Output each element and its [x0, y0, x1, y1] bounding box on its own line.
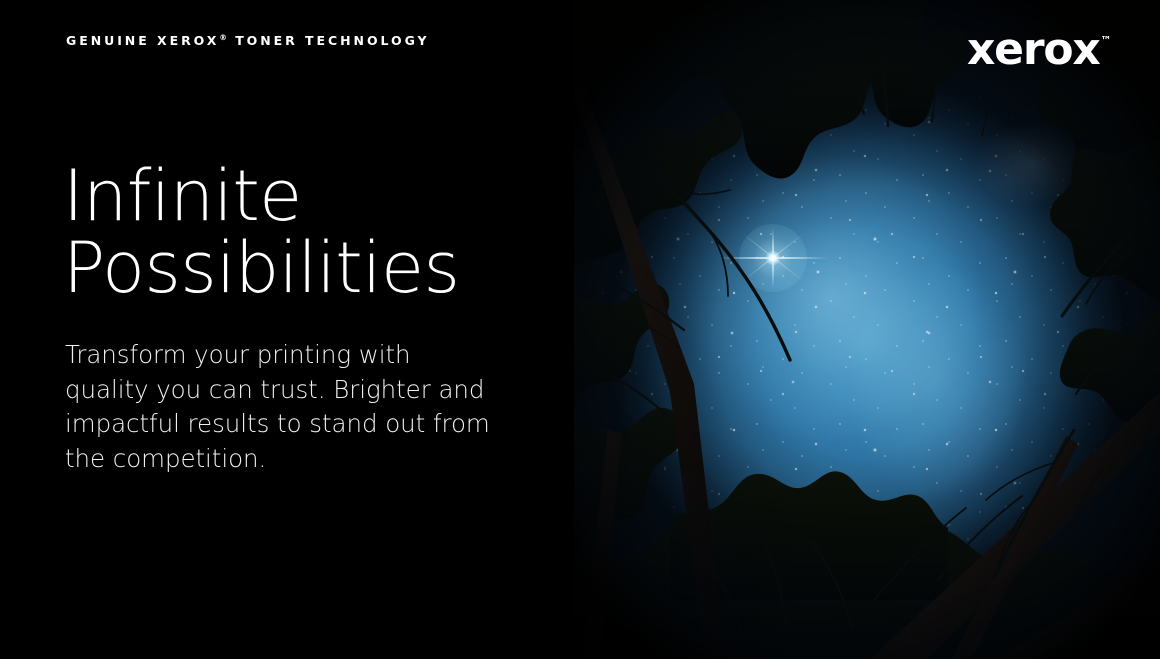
photo-vignette [574, 0, 1160, 659]
xerox-toner-banner: GENUINE XEROX® TONER TECHNOLOGY Infinite… [0, 0, 1160, 659]
subcopy-text: Transform your printing with quality you… [65, 338, 505, 476]
xerox-logo: xerox™ [967, 28, 1112, 72]
eyebrow-suffix: TONER TECHNOLOGY [235, 33, 429, 48]
left-text-panel: GENUINE XEROX® TONER TECHNOLOGY Infinite… [0, 0, 574, 659]
eyebrow-label: GENUINE XEROX® TONER TECHNOLOGY [66, 34, 430, 48]
page-title: Infinite Possibilities [63, 160, 459, 304]
trademark-icon: ™ [1101, 34, 1112, 47]
hero-photo-panel: xerox™ [574, 0, 1160, 659]
xerox-wordmark: xerox [967, 24, 1100, 75]
eyebrow-prefix: GENUINE XEROX [66, 33, 219, 48]
registered-trademark-icon: ® [219, 33, 227, 42]
